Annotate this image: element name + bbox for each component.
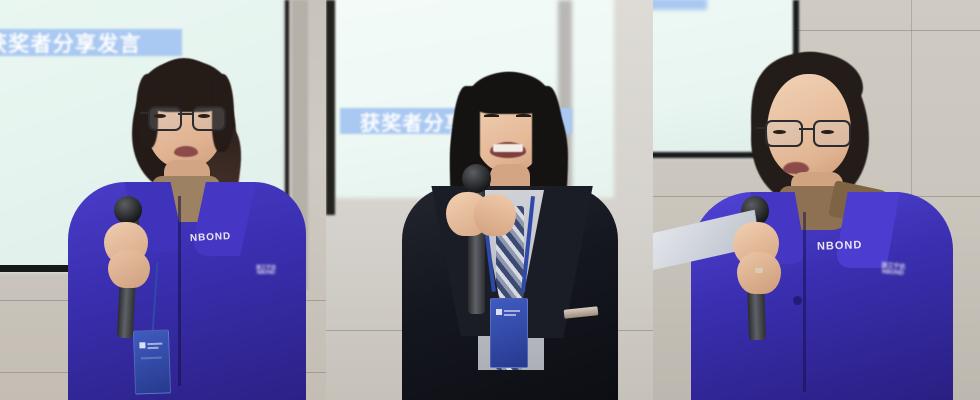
panel3-chest-logo-text: NBOND — [817, 239, 863, 253]
panel1-badge-line-3 — [141, 357, 162, 359]
panel2-hand-right — [474, 194, 516, 236]
panel3-speaker: NBOND 浙江宁达 NBOND — [671, 0, 971, 400]
panel1-hand-lower — [108, 250, 150, 288]
photo-panel-3: NBOND 浙江宁达 NBOND — [653, 0, 980, 400]
panel2-teeth — [493, 144, 523, 152]
panel3-eye-right — [821, 130, 834, 134]
photo-panel-1: 获奖者分享发言 — [0, 0, 326, 400]
panel2-speaker — [350, 0, 640, 400]
panel2-badge-line-2 — [504, 314, 516, 316]
three-panel-photo-composite: 获奖者分享发言 — [0, 0, 980, 400]
panel3-sleeve-mark: 浙江宁达 NBOND — [881, 263, 906, 277]
panel1-glasses-lens-left — [148, 106, 182, 131]
panel3-button — [793, 296, 802, 305]
panel1-eye-right — [198, 114, 210, 118]
photo-panel-2: 获奖者分享 — [326, 0, 653, 400]
panel1-id-badge — [133, 329, 171, 394]
panel1-zipper — [178, 196, 181, 386]
panel1-glasses-lens-right — [192, 106, 226, 131]
panel2-screen-left-edge — [326, 0, 335, 215]
panel1-sleeve-mark: 浙江宁达 NBOND — [256, 266, 276, 277]
panel1-chest-logo: NBOND — [190, 231, 232, 244]
panel3-zipper — [803, 212, 806, 392]
panel1-badge-logo — [139, 342, 145, 348]
panel3-glasses-temple — [756, 127, 766, 129]
panel1-mouth — [174, 146, 198, 157]
panel2-microphone-head — [462, 164, 491, 193]
panel1-glasses-bridge — [178, 113, 192, 115]
panel1-eye-left — [154, 114, 166, 118]
panel2-id-badge — [490, 298, 528, 368]
panel1-chest-logo-text: NBOND — [190, 231, 232, 244]
panel3-sleeve-sub: NBOND — [882, 270, 904, 278]
panel3-hand-lower — [737, 252, 781, 294]
panel1-sleeve-sub: NBOND — [257, 270, 275, 276]
panel2-badge-line-1 — [504, 310, 520, 312]
panel1-glasses-temple — [140, 112, 149, 114]
panel3-eye-left — [773, 130, 786, 134]
panel3-glasses-lens-left — [765, 120, 803, 147]
panel2-badge-logo — [496, 309, 502, 315]
panel2-eye-right — [516, 114, 531, 117]
panel1-badge-line-2 — [147, 347, 158, 349]
panel1-microphone-head — [114, 196, 142, 224]
panel3-chest-logo: NBOND — [817, 239, 863, 253]
panel3-glasses-lens-right — [813, 120, 851, 147]
panel3-glasses-bridge — [799, 128, 813, 130]
panel3-ring — [755, 268, 763, 273]
panel1-badge-line-1 — [147, 343, 162, 346]
panel2-eye-left — [484, 114, 499, 117]
panel1-speaker: NBOND 浙江宁达 NBOND — [28, 0, 318, 400]
